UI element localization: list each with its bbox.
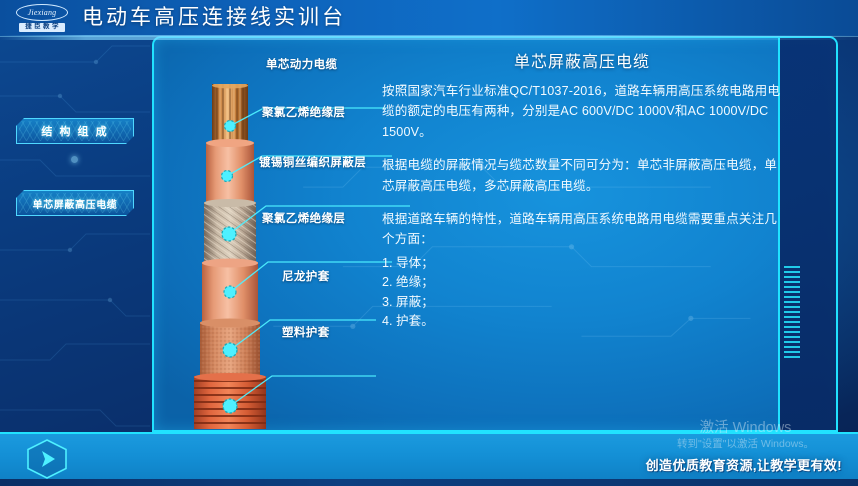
list-item: 1. 导体； xyxy=(382,254,782,274)
sidebar-item-label: 结 构 组 成 xyxy=(41,123,108,139)
list-item: 2. 绝缘； xyxy=(382,273,782,293)
article-paragraph-1: 按照国家汽车行业标准QC/T1037-2016，道路车辆用高压系统电路用电缆的额… xyxy=(382,81,782,142)
brand-logo: Jiexiang 捷 臣 教 学 xyxy=(14,2,70,34)
sidebar-item-single-core-cable[interactable]: 单芯屏蔽高压电缆 xyxy=(16,190,134,216)
app-header: Jiexiang 捷 臣 教 学 电动车高压连接线实训台 xyxy=(0,0,858,36)
accent-comb-decoration xyxy=(784,266,800,358)
logo-script-text: Jiexiang xyxy=(16,4,68,21)
article-body: 单芯屏蔽高压电缆 按照国家汽车行业标准QC/T1037-2016，道路车辆用高压… xyxy=(382,48,782,332)
content-panel: 单芯动力电缆 聚氯乙烯绝缘层 镀锡铜丝编织屏蔽层 聚氯乙烯绝缘层 尼龙护套 塑料… xyxy=(152,36,838,432)
callout-label-6: 塑料护套 xyxy=(282,324,330,340)
logo-subtitle-text: 捷 臣 教 学 xyxy=(19,23,65,32)
article-title: 单芯屏蔽高压电缆 xyxy=(382,48,782,72)
sidebar-item-label: 单芯屏蔽高压电缆 xyxy=(33,196,118,211)
callout-label-5: 尼龙护套 xyxy=(282,268,330,284)
list-item: 4. 护套。 xyxy=(382,312,782,332)
article-paragraph-3: 根据道路车辆的特性，道路车辆用高压系统电路用电缆需要重点关注几个方面： xyxy=(382,209,782,250)
article-paragraph-2: 根据电缆的屏蔽情况与缆芯数量不同可分为：单芯非屏蔽高压电缆，单芯屏蔽高压电缆，多… xyxy=(382,155,782,196)
sidebar-item-structure[interactable]: 结 构 组 成 xyxy=(16,118,134,144)
callout-label-4: 聚氯乙烯绝缘层 xyxy=(262,210,345,226)
sidebar-separator-dot xyxy=(71,156,78,163)
callout-label-2: 聚氯乙烯绝缘层 xyxy=(262,104,345,120)
page-title: 电动车高压连接线实训台 xyxy=(82,0,346,36)
callout-label-1: 单芯动力电缆 xyxy=(266,56,337,72)
panel-right-accent xyxy=(778,38,836,432)
article-list: 1. 导体； 2. 绝缘； 3. 屏蔽； 4. 护套。 xyxy=(382,254,782,332)
play-arrow-icon xyxy=(24,438,70,480)
list-item: 3. 屏蔽； xyxy=(382,293,782,313)
slide-stage: Jiexiang 捷 臣 教 学 电动车高压连接线实训台 结 构 组 成 单芯屏… xyxy=(0,0,858,486)
cable-cutaway-illustration xyxy=(180,84,280,429)
next-slide-button[interactable] xyxy=(24,438,70,480)
bottom-bar: 创造优质教育资源,让教学更有效! xyxy=(0,432,858,486)
footer-slogan: 创造优质教育资源,让教学更有效! xyxy=(646,455,842,474)
callout-label-3: 镀锡铜丝编织屏蔽层 xyxy=(259,154,366,170)
